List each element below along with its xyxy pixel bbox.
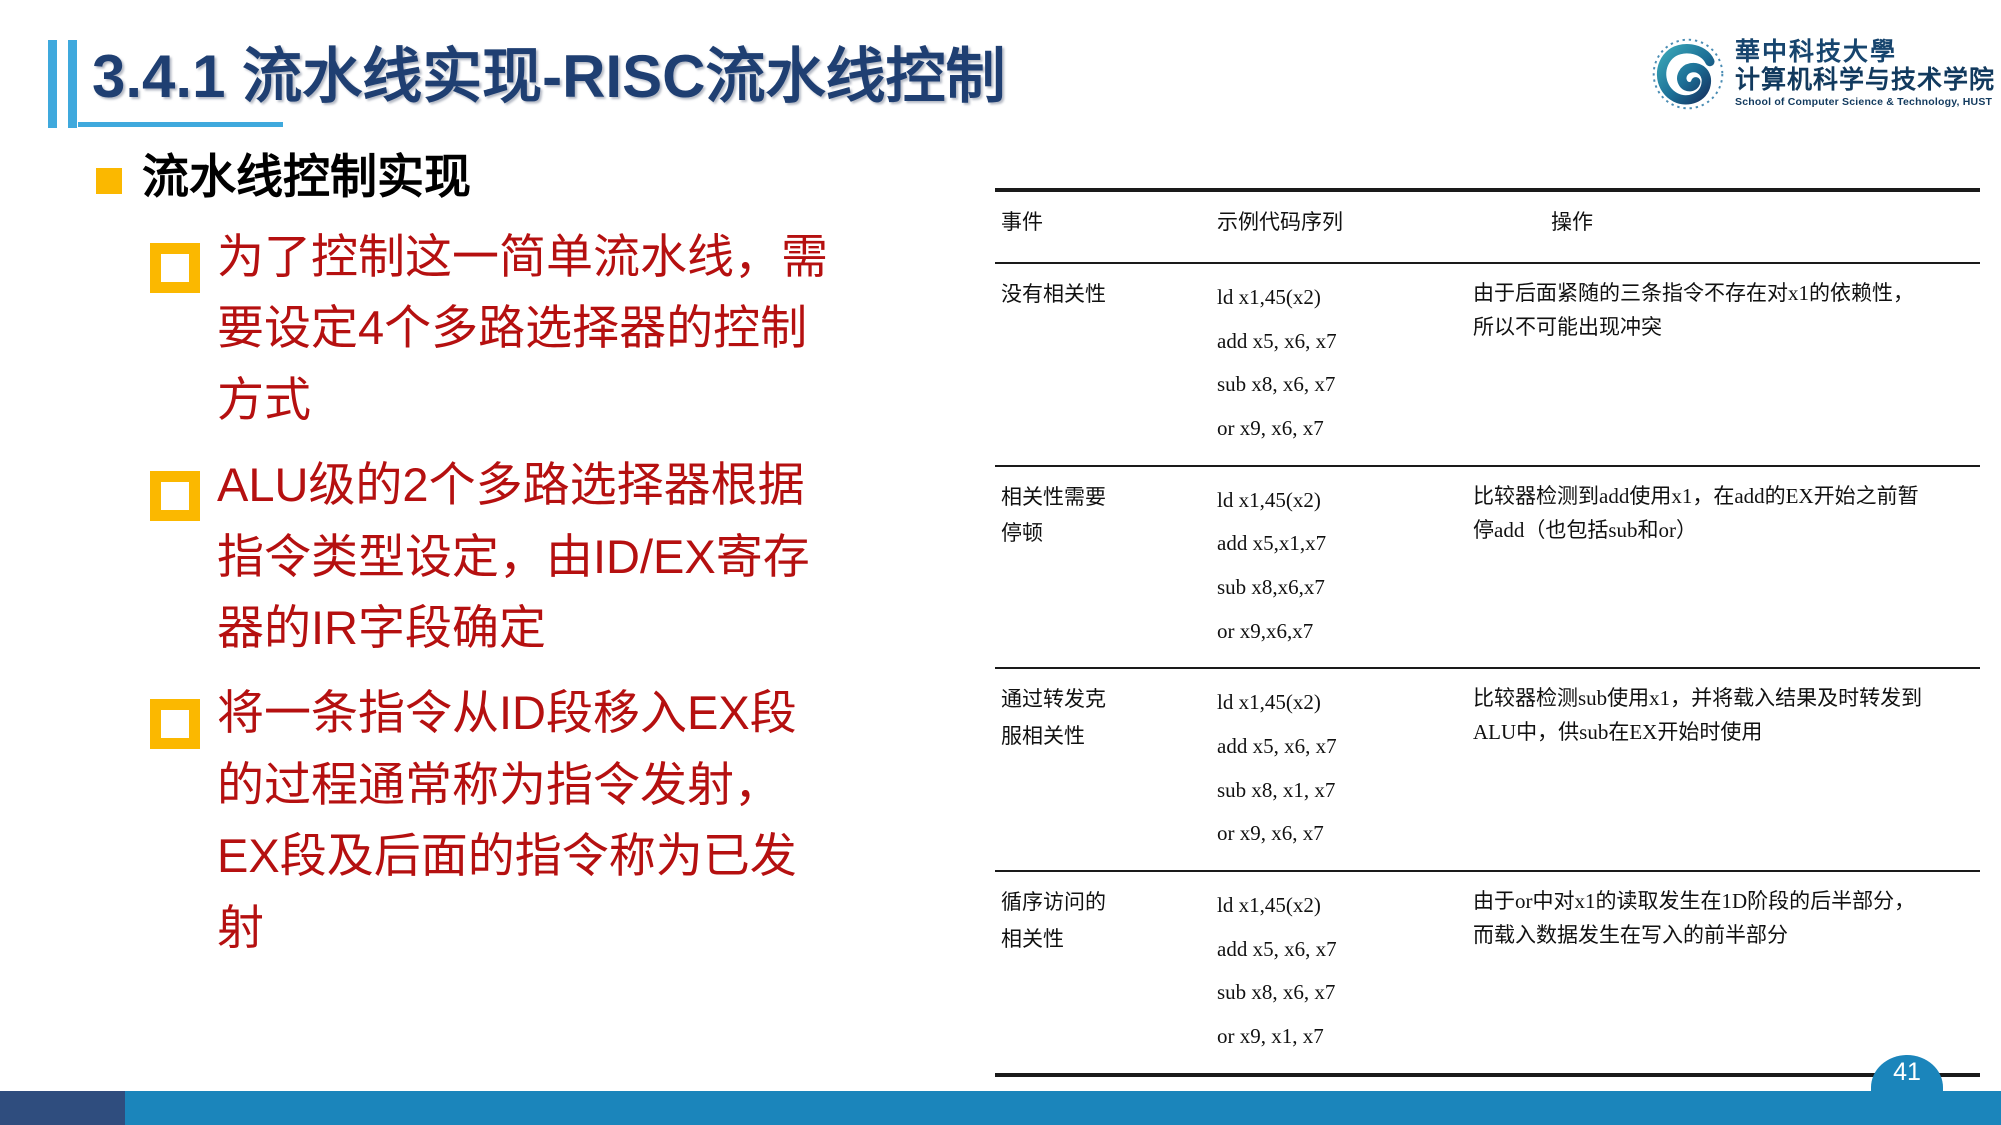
list-item-label: 将一条指令从ID段移入EX段的过程通常称为指令发射，EX段及后面的指令称为已发射 bbox=[217, 677, 837, 963]
table-row: 没有相关性 ld x1,45(x2) add x5, x6, x7 sub x8… bbox=[995, 264, 1980, 465]
operation-line: ALU中，供sub在EX开始时使用 bbox=[1473, 715, 1978, 749]
list-item: 将一条指令从ID段移入EX段的过程通常称为指令发射，EX段及后面的指令称为已发射 bbox=[150, 677, 980, 963]
section-heading: 流水线控制实现 bbox=[142, 148, 471, 207]
operation-line: 比较器检测sub使用x1，并将载入结果及时转发到 bbox=[1473, 681, 1978, 715]
event-line: 相关性 bbox=[1001, 921, 1211, 958]
title-accent-bar-right bbox=[68, 40, 77, 128]
filled-square-bullet-icon bbox=[96, 168, 122, 194]
table-bottom-border bbox=[995, 1073, 1980, 1077]
footer-bar bbox=[0, 1091, 2001, 1125]
page-title: 3.4.1 流水线实现-RISC流水线控制 bbox=[92, 28, 1005, 115]
code-line: or x9, x6, x7 bbox=[1217, 407, 1467, 451]
cell-event: 没有相关性 bbox=[995, 264, 1217, 465]
event-line: 通过转发克 bbox=[1001, 681, 1211, 718]
hollow-square-bullet-icon bbox=[150, 699, 200, 749]
logo-school-name-english: School of Computer Science & Technology,… bbox=[1735, 97, 1995, 108]
operation-line: 比较器检测到add使用x1，在add的EX开始之前暂 bbox=[1473, 479, 1978, 513]
column-header-code-sequence: 示例代码序列 bbox=[1217, 192, 1473, 262]
cell-operation: 由于后面紧随的三条指令不存在对x1的依赖性， 所以不可能出现冲突 bbox=[1473, 264, 1980, 465]
table-row: 通过转发克 服相关性 ld x1,45(x2) add x5, x6, x7 s… bbox=[995, 669, 1980, 870]
code-line: ld x1,45(x2) bbox=[1217, 479, 1467, 523]
event-line: 停顿 bbox=[1001, 515, 1211, 552]
operation-line: 由于后面紧随的三条指令不存在对x1的依赖性， bbox=[1473, 276, 1978, 310]
cell-code-sequence: ld x1,45(x2) add x5, x6, x7 sub x8, x6, … bbox=[1217, 264, 1473, 465]
list-item: 为了控制这一简单流水线，需要设定4个多路选择器的控制方式 bbox=[150, 221, 980, 435]
list-item: ALU级的2个多路选择器根据指令类型设定，由ID/EX寄存器的IR字段确定 bbox=[150, 449, 980, 663]
code-line: or x9, x6, x7 bbox=[1217, 812, 1467, 856]
event-line: 没有相关性 bbox=[1001, 276, 1211, 313]
hollow-square-bullet-icon bbox=[150, 243, 200, 293]
logo-university-name: 華中科技大學 bbox=[1735, 40, 1995, 65]
event-line: 服相关性 bbox=[1001, 718, 1211, 755]
cell-event: 相关性需要 停顿 bbox=[995, 467, 1217, 668]
list-item-label: 为了控制这一简单流水线，需要设定4个多路选择器的控制方式 bbox=[217, 221, 837, 435]
hust-logo: 華中科技大學 计算机科学与技术学院 School of Computer Sci… bbox=[1649, 26, 1979, 122]
code-line: add x5, x6, x7 bbox=[1217, 928, 1467, 972]
column-header-event: 事件 bbox=[995, 192, 1217, 262]
event-line: 循序访问的 bbox=[1001, 884, 1211, 921]
table-header-row: 事件 示例代码序列 操作 bbox=[995, 192, 1980, 262]
code-line: sub x8, x6, x7 bbox=[1217, 971, 1467, 1015]
cell-event: 循序访问的 相关性 bbox=[995, 872, 1217, 1073]
code-line: sub x8, x6, x7 bbox=[1217, 363, 1467, 407]
cell-event: 通过转发克 服相关性 bbox=[995, 669, 1217, 870]
operation-line: 停add（也包括sub和or） bbox=[1473, 513, 1978, 547]
cell-code-sequence: ld x1,45(x2) add x5,x1,x7 sub x8,x6,x7 o… bbox=[1217, 467, 1473, 668]
operation-line: 而载入数据发生在写入的前半部分 bbox=[1473, 918, 1978, 952]
code-line: or x9,x6,x7 bbox=[1217, 610, 1467, 654]
title-accent-bar-left bbox=[48, 40, 57, 128]
heading-bullet: 流水线控制实现 bbox=[96, 148, 980, 207]
hust-spiral-icon bbox=[1649, 35, 1727, 113]
code-line: or x9, x1, x7 bbox=[1217, 1015, 1467, 1059]
operation-line: 由于or中对x1的读取发生在1D阶段的后半部分， bbox=[1473, 884, 1978, 918]
column-header-operation: 操作 bbox=[1473, 192, 1980, 262]
table-row: 相关性需要 停顿 ld x1,45(x2) add x5,x1,x7 sub x… bbox=[995, 467, 1980, 668]
operation-line: 所以不可能出现冲突 bbox=[1473, 310, 1978, 344]
hazard-examples-table: 事件 示例代码序列 操作 没有相关性 ld x1,45(x2) add x5, … bbox=[995, 188, 1980, 1077]
code-line: add x5, x6, x7 bbox=[1217, 725, 1467, 769]
page-number: 41 bbox=[1875, 1058, 1939, 1087]
cell-operation: 由于or中对x1的读取发生在1D阶段的后半部分， 而载入数据发生在写入的前半部分 bbox=[1473, 872, 1980, 1073]
table-row: 循序访问的 相关性 ld x1,45(x2) add x5, x6, x7 su… bbox=[995, 872, 1980, 1073]
title-underline bbox=[78, 122, 283, 127]
list-item-label: ALU级的2个多路选择器根据指令类型设定，由ID/EX寄存器的IR字段确定 bbox=[217, 449, 837, 663]
event-line: 相关性需要 bbox=[1001, 479, 1211, 516]
slide-header: 3.4.1 流水线实现-RISC流水线控制 bbox=[0, 0, 1600, 150]
cell-operation: 比较器检测到add使用x1，在add的EX开始之前暂 停add（也包括sub和o… bbox=[1473, 467, 1980, 668]
footer-accent-block bbox=[0, 1091, 125, 1125]
cell-code-sequence: ld x1,45(x2) add x5, x6, x7 sub x8, x1, … bbox=[1217, 669, 1473, 870]
code-line: ld x1,45(x2) bbox=[1217, 681, 1467, 725]
code-line: add x5,x1,x7 bbox=[1217, 522, 1467, 566]
hollow-square-bullet-icon bbox=[150, 471, 200, 521]
code-line: ld x1,45(x2) bbox=[1217, 276, 1467, 320]
code-line: sub x8, x1, x7 bbox=[1217, 769, 1467, 813]
code-line: ld x1,45(x2) bbox=[1217, 884, 1467, 928]
code-line: add x5, x6, x7 bbox=[1217, 320, 1467, 364]
code-line: sub x8,x6,x7 bbox=[1217, 566, 1467, 610]
logo-school-name: 计算机科学与技术学院 bbox=[1735, 68, 1995, 93]
logo-text-block: 華中科技大學 计算机科学与技术学院 School of Computer Sci… bbox=[1735, 40, 1995, 108]
cell-code-sequence: ld x1,45(x2) add x5, x6, x7 sub x8, x6, … bbox=[1217, 872, 1473, 1073]
cell-operation: 比较器检测sub使用x1，并将载入结果及时转发到 ALU中，供sub在EX开始时… bbox=[1473, 669, 1980, 870]
slide-body-left: 流水线控制实现 为了控制这一简单流水线，需要设定4个多路选择器的控制方式 ALU… bbox=[0, 148, 980, 963]
